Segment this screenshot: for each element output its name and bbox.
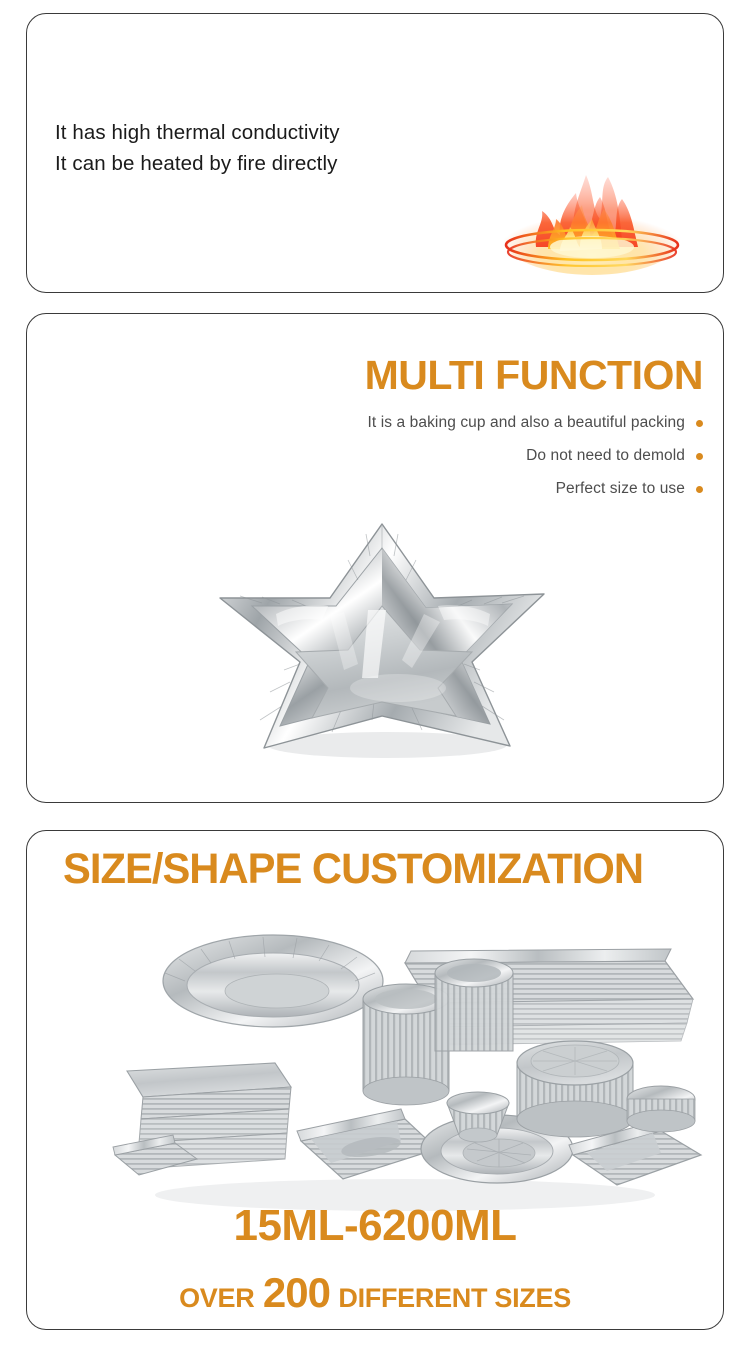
thermal-description: It has high thermal conductivity It can … (55, 117, 340, 179)
list-item: Perfect size to use (368, 480, 704, 498)
bullet-dot-icon (696, 453, 703, 460)
panel-thermal-conductivity: It has high thermal conductivity It can … (26, 13, 724, 293)
sizes-suffix: DIFFERENT SIZES (338, 1283, 571, 1313)
bullet-dot-icon (696, 486, 703, 493)
sizes-count: 200 (263, 1269, 330, 1316)
size-shape-heading: SIZE/SHAPE CUSTOMIZATION (63, 845, 643, 894)
bullet-label: Perfect size to use (556, 480, 685, 498)
foil-containers-group-image (105, 903, 705, 1213)
bullet-dot-icon (696, 420, 703, 427)
sizes-prefix: OVER (179, 1283, 254, 1313)
different-sizes-text: OVER 200 DIFFERENT SIZES (27, 1269, 723, 1317)
bullet-label: Do not need to demold (526, 447, 685, 465)
thermal-line-1: It has high thermal conductivity (55, 117, 340, 148)
panel-size-shape-customization: SIZE/SHAPE CUSTOMIZATION (26, 830, 724, 1330)
volume-range-text: 15ML-6200ML (27, 1201, 723, 1251)
multi-function-bullet-list: It is a baking cup and also a beautiful … (368, 414, 704, 513)
star-foil-cup-image (172, 502, 592, 772)
bullet-label: It is a baking cup and also a beautiful … (368, 414, 686, 432)
list-item: It is a baking cup and also a beautiful … (368, 414, 704, 432)
multi-function-heading: MULTI FUNCTION (365, 352, 703, 399)
panel-multi-function: MULTI FUNCTION It is a baking cup and al… (26, 313, 724, 803)
thermal-line-2: It can be heated by fire directly (55, 148, 340, 179)
flame-on-ring-icon (482, 139, 702, 279)
list-item: Do not need to demold (368, 447, 704, 465)
